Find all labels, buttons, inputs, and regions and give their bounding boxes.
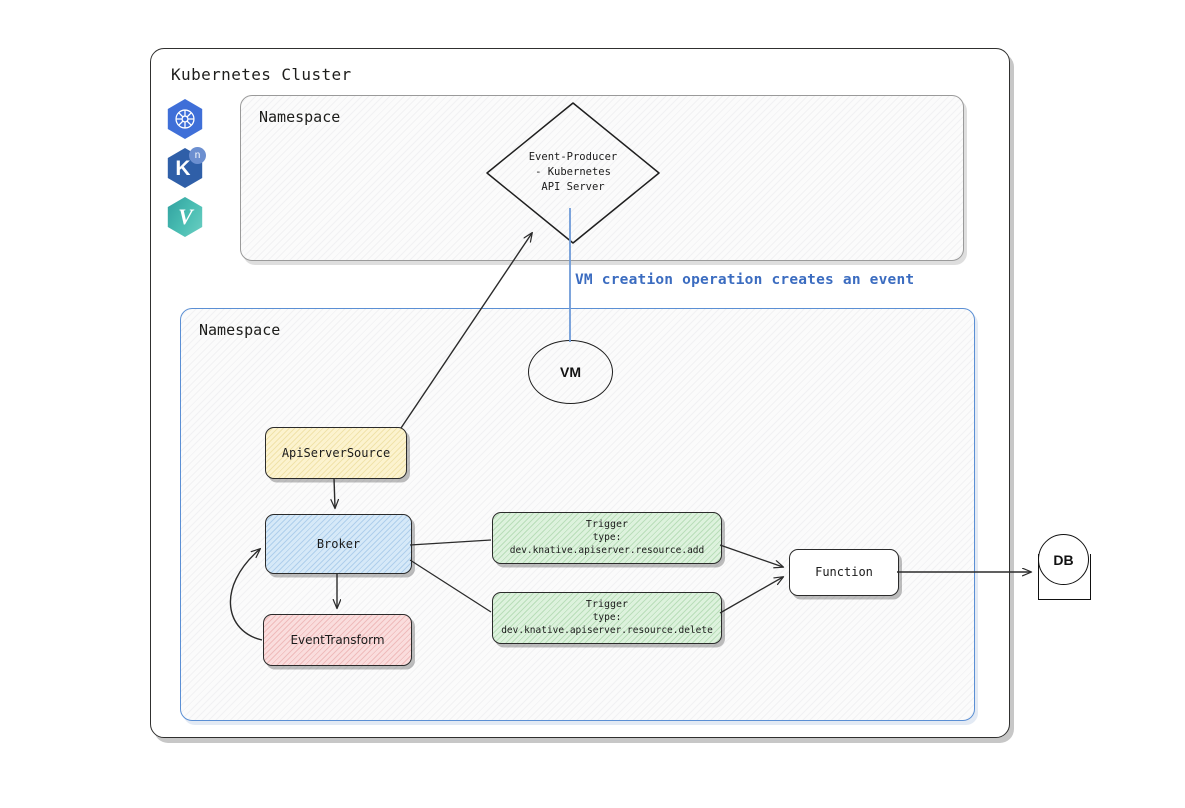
apiserversource-label: ApiServerSource (282, 445, 390, 461)
function-label: Function (815, 564, 873, 580)
api-server-line-2: - Kubernetes (483, 165, 663, 180)
knative-logo-badge: n (189, 147, 206, 164)
vm-event-annotation: VM creation operation creates an event (575, 272, 914, 288)
apiserversource-node: ApiServerSource (265, 427, 407, 479)
knative-logo: K n (165, 148, 205, 188)
trigger-add-type: type: dev.knative.apiserver.resource.add (493, 532, 721, 558)
knative-logo-letter: K (175, 157, 190, 181)
vm-node-label: VM (560, 364, 581, 380)
event-producer-api-server-node: Event-Producer - Kubernetes API Server (483, 100, 663, 246)
db-node: DB (1038, 534, 1091, 600)
api-server-line-1: Event-Producer (483, 150, 663, 165)
namespace-top-label: Namespace (259, 108, 340, 126)
kubevirt-logo-letter: V (178, 204, 192, 230)
kubevirt-logo: V (165, 197, 205, 237)
broker-label: Broker (317, 536, 360, 552)
api-server-line-3: API Server (483, 181, 663, 196)
cluster-title: Kubernetes Cluster (171, 65, 352, 84)
db-label: DB (1053, 552, 1073, 568)
function-node: Function (789, 549, 899, 596)
helm-wheel-icon (172, 106, 198, 132)
trigger-delete-type: type: dev.knative.apiserver.resource.del… (493, 612, 721, 638)
vm-node: VM (528, 340, 613, 404)
diagram-canvas: Kubernetes Cluster (0, 0, 1185, 808)
trigger-add-title: Trigger (586, 518, 628, 532)
kubernetes-logo (165, 99, 205, 139)
trigger-delete-node: Trigger type: dev.knative.apiserver.reso… (492, 592, 722, 644)
trigger-delete-title: Trigger (586, 598, 628, 612)
broker-node: Broker (265, 514, 412, 574)
namespace-bottom-label: Namespace (199, 321, 280, 339)
eventtransform-label: EventTransform (290, 632, 384, 648)
trigger-add-node: Trigger type: dev.knative.apiserver.reso… (492, 512, 722, 564)
db-circle-shape: DB (1038, 534, 1089, 585)
eventtransform-node: EventTransform (263, 614, 412, 666)
